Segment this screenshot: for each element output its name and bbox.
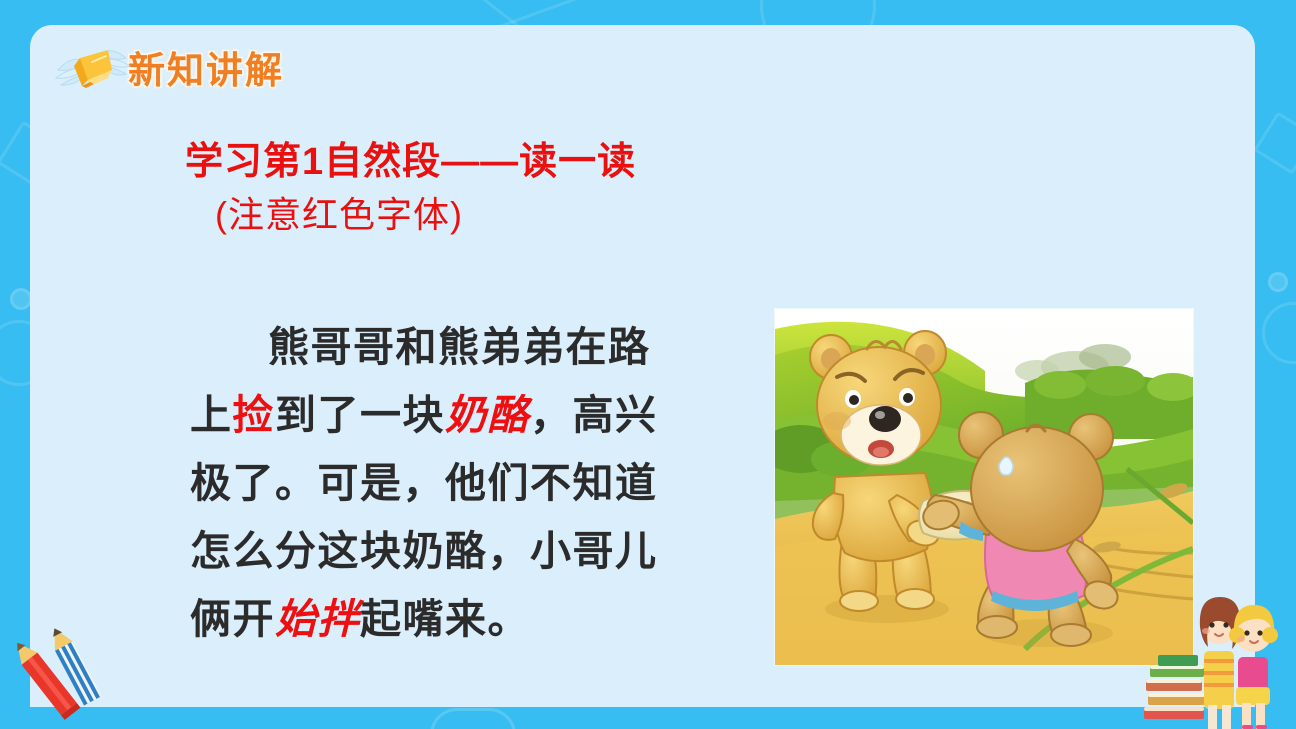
pencils-icon [10,605,130,725]
paragraph-text: 熊哥哥和熊弟弟在路 [268,324,651,370]
slide-canvas: 新知讲解 学习第1自然段——读一读 (注意红色字体) 熊哥哥和熊弟弟在路上捡到了… [0,0,1296,729]
paragraph-line: 上捡到了一块奶酪，高兴 [190,381,690,449]
doodle-arc [430,708,516,729]
paragraph-text: 上 [190,392,233,438]
doodle-dot [10,288,32,310]
doodle-dot [1268,272,1288,292]
paragraph-line: 俩开始拌起嘴来。 [190,585,690,653]
paragraph-highlight: 奶酪 [445,392,530,438]
content-panel: 新知讲解 学习第1自然段——读一读 (注意红色字体) 熊哥哥和熊弟弟在路上捡到了… [30,25,1255,707]
paragraph-text: 怎么分这块奶酪，小哥儿 [190,528,658,574]
paragraph-text: ，高兴 [530,392,658,438]
section-title: 新知讲解 [128,40,284,94]
lesson-paragraph: 熊哥哥和熊弟弟在路上捡到了一块奶酪，高兴极了。可是，他们不知道怎么分这块奶酪，小… [190,313,690,653]
lesson-title-sub: (注意红色字体) [215,187,636,243]
paragraph-line: 怎么分这块奶酪，小哥儿 [190,517,690,585]
paragraph-text: 极了。可是，他们不知道 [190,460,658,506]
lesson-title-block: 学习第1自然段——读一读 (注意红色字体) [185,137,636,243]
doodle-square [1253,111,1296,174]
lesson-title-main: 学习第1自然段——读一读 [185,137,636,187]
flying-book-icon [48,36,134,98]
paragraph-line: 极了。可是，他们不知道 [190,449,690,517]
section-header: 新知讲解 [48,33,284,101]
paragraph-highlight: 始拌 [275,596,360,642]
paragraph-line: 熊哥哥和熊弟弟在路 [190,313,690,381]
paragraph-text: 到了一块 [275,392,445,438]
two-bears-sharing-cheese-illustration [775,309,1193,665]
doodle-circle [1262,302,1296,364]
children-and-books-icon [1142,579,1292,729]
paragraph-highlight: 捡 [233,392,276,438]
paragraph-text: 俩开 [190,596,275,642]
paragraph-text: 起嘴来。 [360,596,530,642]
